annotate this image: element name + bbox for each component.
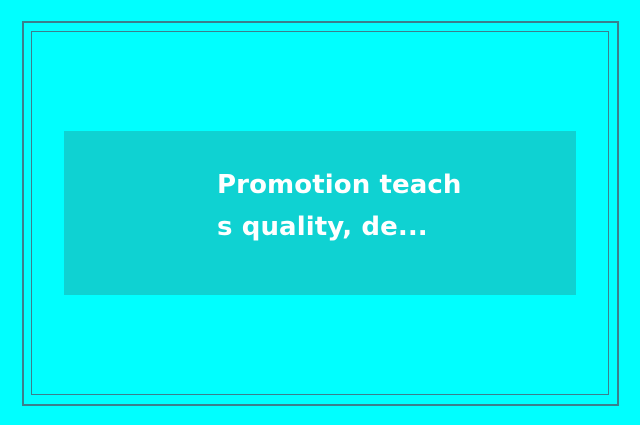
promotion-panel: Promotion teach s quality, de... <box>64 131 576 295</box>
promotion-text: Promotion teach s quality, de... <box>217 164 562 248</box>
banner-canvas: Promotion teach s quality, de... <box>0 0 640 425</box>
